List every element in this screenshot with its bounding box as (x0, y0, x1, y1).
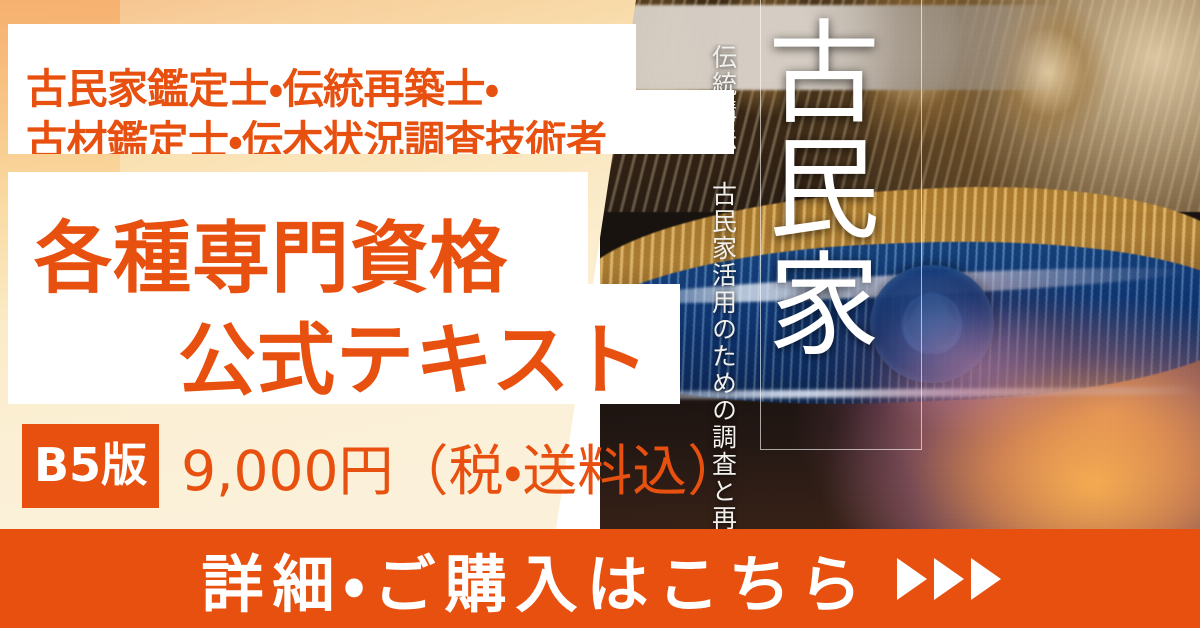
headline-line-1: 各種専門資格 (34, 196, 508, 308)
cta-label: 詳細・ご購入はこちら (201, 534, 870, 624)
triangle-right-icon (934, 558, 964, 600)
promo-banner: 古民家 伝統構法 古民家活用のための調査と再生の 古民家鑑定士・伝統再築士・ 古… (0, 0, 1200, 628)
book-cover-title: 古民家 (765, 14, 883, 444)
cta-bar-button[interactable]: 詳細・ご購入はこちら (0, 529, 1200, 628)
triangle-right-icon (897, 558, 927, 600)
triangle-right-icon (971, 558, 1001, 600)
size-badge: B5版 (22, 424, 159, 508)
price-amount: 9,000円（税・送料込） (181, 426, 742, 506)
certifications-panel: 古民家鑑定士・伝統再築士・ 古材鑑定士・伝木状況調査技術者 (8, 24, 734, 154)
cta-arrow-group (897, 558, 1001, 600)
headline-line-2: 公式テキスト (178, 298, 650, 410)
price-row: B5版 9,000円（税・送料込） (22, 423, 742, 509)
headline-panel: 各種専門資格 公式テキスト (8, 172, 680, 404)
certification-line-1: 古民家鑑定士・伝統再築士・ (26, 55, 498, 115)
